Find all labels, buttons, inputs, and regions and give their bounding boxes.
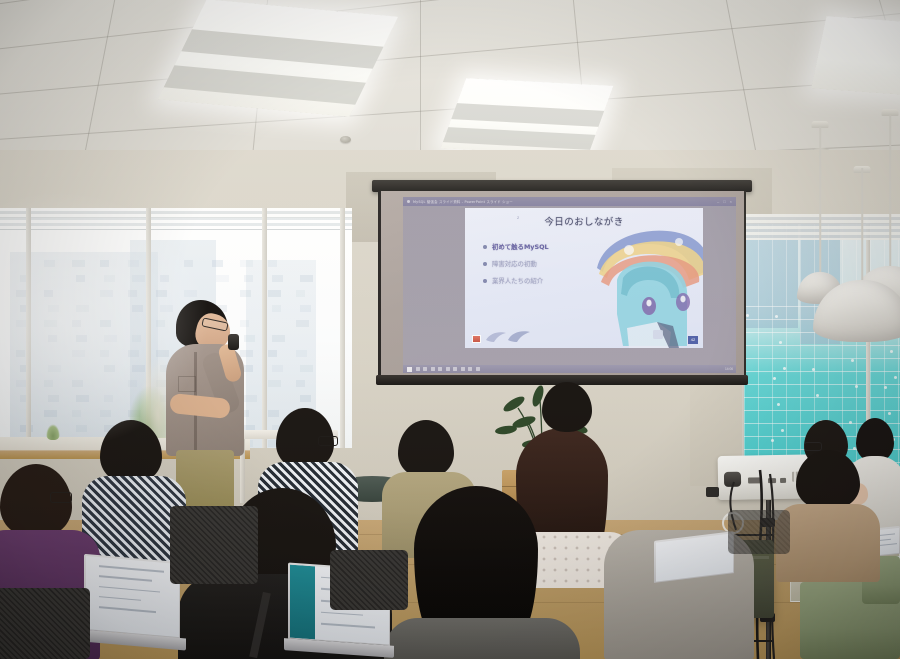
window-titlebar: MySQL 勉強会 スライド資料 - PowerPoint スライド ショー –… <box>403 197 736 206</box>
ceiling-light-panel <box>441 78 614 156</box>
laptop-display <box>656 533 733 581</box>
search-icon[interactable] <box>416 367 420 371</box>
start-button[interactable] <box>407 367 412 372</box>
projected-desktop: MySQL 勉強会 スライド資料 - PowerPoint スライド ショー –… <box>403 197 736 373</box>
explorer-icon[interactable] <box>431 367 435 371</box>
roller-blind <box>0 208 352 230</box>
glasses-icon <box>50 492 72 503</box>
shirt-pocket <box>178 376 196 392</box>
glasses-icon <box>318 436 338 446</box>
bullet-icon <box>483 262 487 266</box>
attendee <box>86 420 182 570</box>
anime-mascot-illustration <box>583 210 703 348</box>
bullet-label: 業界人たちの紹介 <box>492 276 543 285</box>
bullet-icon <box>483 245 487 249</box>
task-view-icon[interactable] <box>423 367 427 371</box>
dolphin-icon <box>485 331 507 343</box>
presentation-room-photo: MySQL 勉強会 スライド資料 - PowerPoint スライド ショー –… <box>0 0 900 659</box>
attendee-front-right <box>390 486 570 659</box>
head <box>100 420 162 484</box>
app-icon <box>407 200 410 203</box>
windows-taskbar[interactable]: 14:06 <box>403 365 736 373</box>
ceiling-light-panel <box>811 16 900 96</box>
chat-icon[interactable] <box>453 367 457 371</box>
windowsill-plant <box>46 424 60 440</box>
dolphin-icon <box>507 330 531 343</box>
list-item: 初めて触るMySQL <box>483 242 549 251</box>
head <box>542 382 592 432</box>
mesh-chair <box>0 588 90 659</box>
list-item: 業界人たちの紹介 <box>483 276 549 285</box>
window-mullion <box>26 208 31 448</box>
torso <box>384 618 580 659</box>
slide-corner-badge: 42 <box>688 336 698 344</box>
head <box>398 420 454 478</box>
list-item: 障害対応の初動 <box>483 259 549 268</box>
terminal-icon[interactable] <box>461 367 465 371</box>
mesh-chair <box>170 506 258 584</box>
mesh-chair <box>330 550 408 610</box>
powerpoint-icon[interactable] <box>476 367 480 371</box>
mesh-chair <box>728 510 790 554</box>
pendant-lamp <box>812 168 900 368</box>
torso <box>776 504 880 582</box>
mail-icon[interactable] <box>446 367 450 371</box>
laptop-screen <box>84 554 180 638</box>
slide-bullet-list: 初めて触るMySQL 障害対応の初動 業界人たちの紹介 <box>483 242 549 293</box>
bullet-icon <box>483 279 487 283</box>
taskbar-clock: 14:06 <box>725 367 733 371</box>
presenter-remote <box>228 334 239 350</box>
screen-surface: MySQL 勉強会 スライド資料 - PowerPoint スライド ショー –… <box>378 191 746 377</box>
attendee <box>778 450 876 580</box>
attendee <box>534 382 600 442</box>
window-title: MySQL 勉強会 スライド資料 - PowerPoint スライド ショー <box>413 199 513 204</box>
hair-long <box>414 486 538 636</box>
mysql-logo-mark <box>472 335 481 343</box>
laptop-display <box>86 555 179 636</box>
presentation-slide: 2 今日のおしながき 初めて触るMySQL 障害対応の初動 <box>465 208 703 348</box>
bullet-label: 障害対応の初動 <box>492 259 537 268</box>
head <box>796 450 860 510</box>
editor-icon[interactable] <box>468 367 472 371</box>
browser-icon[interactable] <box>438 367 442 371</box>
laptop-screen <box>654 531 734 583</box>
sprinkler-icon <box>340 136 351 143</box>
minimize-icon[interactable]: – <box>717 197 719 206</box>
app-sidebar <box>290 564 316 639</box>
close-icon[interactable]: × <box>730 197 732 206</box>
bullet-label: 初めて触るMySQL <box>492 242 549 251</box>
projection-screen: MySQL 勉強会 スライド資料 - PowerPoint スライド ショー –… <box>372 180 752 385</box>
maximize-icon[interactable]: □ <box>723 197 725 206</box>
window-controls[interactable]: – □ × <box>717 197 732 206</box>
